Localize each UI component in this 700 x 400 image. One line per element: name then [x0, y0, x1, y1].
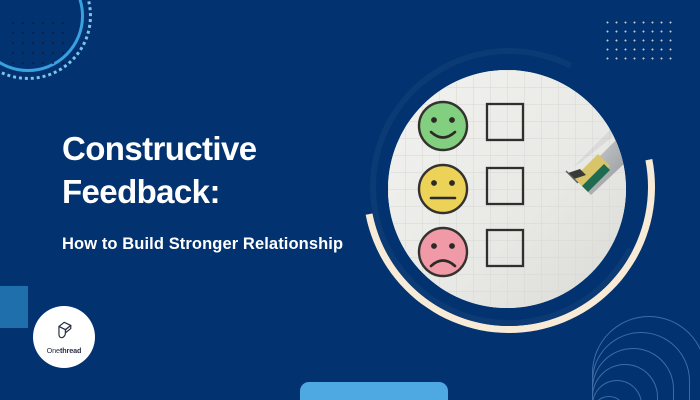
brand-logo[interactable]: Onethread: [33, 306, 95, 368]
onethread-cube-icon: [53, 319, 75, 346]
feedback-survey-photo: [388, 70, 626, 308]
logo-wordmark: Onethread: [47, 347, 82, 354]
promo-banner: Constructive Feedback: How to Build Stro…: [0, 0, 700, 400]
bottom-left-square-decoration: [0, 286, 28, 328]
sad-face-icon: [419, 228, 467, 276]
page-title: Constructive Feedback:: [62, 128, 362, 214]
headline-block: Constructive Feedback: How to Build Stro…: [62, 128, 362, 257]
survey-illustration: [388, 70, 626, 308]
happy-face-icon: [419, 102, 467, 150]
top-left-dot-grid: [8, 18, 68, 66]
bottom-accent-bar: [300, 382, 448, 400]
logo-word-light: One: [47, 346, 60, 355]
hero-image-container: [360, 38, 660, 338]
neutral-face-icon: [419, 165, 467, 213]
page-subtitle: How to Build Stronger Relationship: [62, 232, 362, 258]
logo-word-bold: thread: [60, 346, 81, 355]
